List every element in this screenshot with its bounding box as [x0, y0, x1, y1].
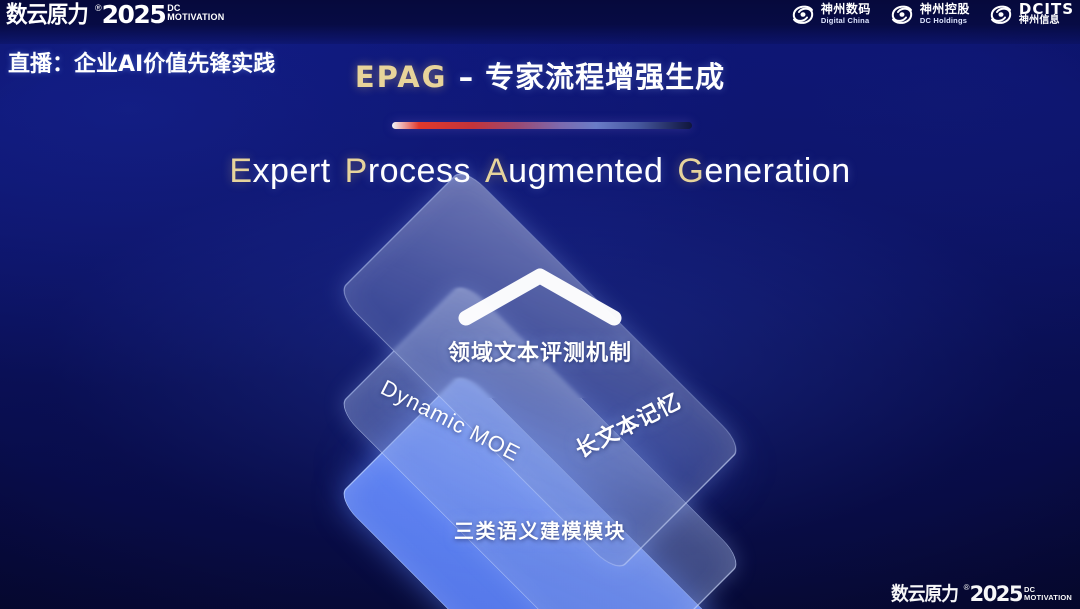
watermark-dc-line2: MOTIVATION — [1024, 594, 1072, 602]
partner-logo-group: 神州数码 Digital China 神州控股 DC Holdings — [790, 4, 1074, 26]
brand-dc-line2: MOTIVATION — [167, 13, 224, 22]
brand-logo: 数云原力 ® 2025 DC MOTIVATION — [6, 2, 224, 28]
brand-name-cn: 数云原力 — [6, 2, 88, 28]
swirl-icon — [790, 4, 816, 26]
watermark-name-cn: 数云原力 — [891, 583, 958, 605]
live-session-title: 直播：企业AI价值先锋实践 — [8, 46, 275, 78]
brand-year: 2025 — [102, 2, 166, 28]
subtitle-cap-p: P — [345, 152, 368, 190]
brand-dc-motivation: DC MOTIVATION — [167, 4, 224, 22]
subtitle-word-process: rocess — [368, 152, 471, 190]
partner-name-cn: 神州控股 — [920, 4, 970, 14]
partner-name-en: Digital China — [821, 16, 871, 26]
partner-logo-dcits: DCITS 神州信息 — [988, 4, 1074, 26]
watermark-dc-motivation: DC MOTIVATION — [1024, 586, 1072, 602]
partner-logo-digital-china: 神州数码 Digital China — [790, 4, 871, 26]
partner-name-en: 神州信息 — [1019, 16, 1074, 26]
subtitle-cap-e: E — [229, 152, 252, 190]
chevron-up-icon — [454, 264, 626, 330]
registered-mark-icon: ® — [95, 2, 102, 14]
slide-canvas: 数云原力 ® 2025 DC MOTIVATION 直播：企业AI价值先锋实践 … — [0, 0, 1080, 609]
subtitle-word-generation: eneration — [704, 152, 850, 190]
swirl-icon — [889, 4, 915, 26]
partner-logo-dc-holdings: 神州控股 DC Holdings — [889, 4, 970, 26]
layer-label-bottom: 三类语义建模模块 — [0, 515, 1080, 544]
headline-chinese: 专家流程增强生成 — [485, 60, 725, 94]
swirl-icon — [988, 4, 1014, 26]
subtitle-cap-g: G — [677, 152, 704, 190]
partner-name-en: DC Holdings — [920, 16, 970, 26]
subtitle-cap-a: A — [485, 152, 508, 190]
subtitle-word-augmented: ugmented — [508, 152, 663, 190]
brand-watermark: 数云原力 ® 2025 DC MOTIVATION — [891, 583, 1072, 605]
subtitle-word-expert: xpert — [253, 152, 331, 190]
gradient-divider — [392, 122, 692, 129]
partner-name-cn: DCITS — [1019, 4, 1074, 14]
headline-dash: – — [447, 60, 485, 94]
layer-stack-diagram: 领域文本评测机制 Dynamic MOE 长文本记忆 三类语义建模模块 — [0, 212, 1080, 592]
layer-label-top: 领域文本评测机制 — [0, 335, 1080, 367]
headline-acronym: EPAG — [355, 60, 448, 94]
slide-subtitle: ExpertProcessAugmentedGeneration — [0, 152, 1080, 191]
watermark-year: 2025 — [970, 583, 1022, 605]
partner-name-cn: 神州数码 — [821, 4, 871, 14]
